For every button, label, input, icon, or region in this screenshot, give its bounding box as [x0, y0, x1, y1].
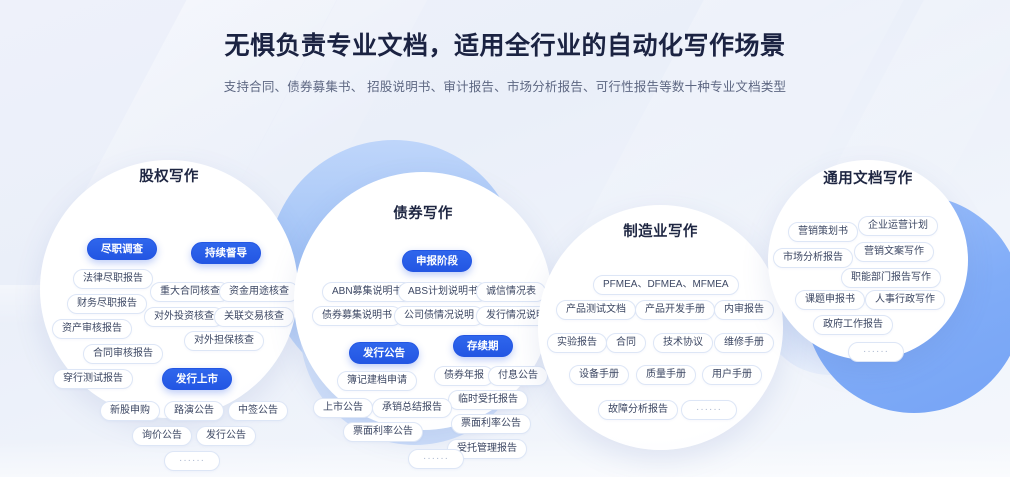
doc-type-chip[interactable]: 公司债情况说明: [394, 306, 484, 326]
bubble-equity-writing: 股权写作尽职调查持续督导法律尽职报告重大合同核查资金用途核查财务尽职报告对外投资…: [40, 160, 298, 418]
doc-type-chip[interactable]: 技术协议: [653, 333, 713, 353]
doc-type-chip[interactable]: 产品开发手册: [635, 300, 715, 320]
page-header: 无惧负责专业文档，适用全行业的自动化写作场景 支持合同、债券募集书、 招股说明书…: [0, 0, 1010, 95]
bubble-general-doc-writing: 通用文档写作营销策划书企业运营计划市场分析报告营销文案写作职能部门报告写作课题申…: [768, 160, 968, 360]
doc-type-chip[interactable]: 承销总结报告: [372, 398, 452, 418]
page-title: 无惧负责专业文档，适用全行业的自动化写作场景: [0, 26, 1010, 62]
doc-type-chip[interactable]: 课题申报书: [795, 290, 865, 310]
category-pill[interactable]: 发行上市: [162, 368, 232, 390]
category-pill[interactable]: 申报阶段: [402, 250, 472, 272]
doc-type-chip[interactable]: 资金用途核查: [219, 282, 299, 302]
more-chip[interactable]: ······: [408, 449, 464, 469]
bubble-title-manufacturing-writing: 制造业写作: [538, 220, 783, 241]
doc-type-chip[interactable]: 簿记建档申请: [337, 371, 417, 391]
doc-type-chip[interactable]: 法律尽职报告: [73, 269, 153, 289]
page-subtitle: 支持合同、债券募集书、 招股说明书、审计报告、市场分析报告、可行性报告等数十种专…: [0, 76, 1010, 95]
doc-type-chip[interactable]: 对外担保核查: [184, 331, 264, 351]
more-chip[interactable]: ······: [164, 451, 220, 471]
doc-type-chip[interactable]: PFMEA、DFMEA、MFMEA: [593, 275, 739, 295]
doc-type-chip[interactable]: 设备手册: [569, 365, 629, 385]
doc-type-chip[interactable]: 上市公告: [313, 398, 373, 418]
doc-type-chip[interactable]: 临时受托报告: [448, 390, 528, 410]
doc-type-chip[interactable]: 新股申购: [100, 401, 160, 421]
bubble-title-bond-writing: 债券写作: [294, 202, 552, 223]
doc-type-chip[interactable]: 企业运营计划: [858, 216, 938, 236]
doc-type-chip[interactable]: 人事行政写作: [865, 290, 945, 310]
doc-type-chip[interactable]: 质量手册: [636, 365, 696, 385]
category-pill[interactable]: 发行公告: [349, 342, 419, 364]
doc-type-chip[interactable]: 询价公告: [132, 426, 192, 446]
category-pill[interactable]: 持续督导: [191, 242, 261, 264]
doc-type-chip[interactable]: 发行公告: [196, 426, 256, 446]
doc-type-chip[interactable]: 对外投资核查: [144, 307, 224, 327]
doc-type-chip[interactable]: 财务尽职报告: [67, 294, 147, 314]
bubble-title-equity-writing: 股权写作: [40, 165, 298, 186]
doc-type-chip[interactable]: 营销策划书: [788, 222, 858, 242]
doc-type-chip[interactable]: 实验报告: [547, 333, 607, 353]
doc-type-chip[interactable]: 中签公告: [228, 401, 288, 421]
bubble-bond-writing: 债券写作申报阶段ABN募集说明书ABS计划说明书诚信情况表债券募集说明书公司债情…: [294, 172, 552, 430]
doc-type-chip[interactable]: 债券募集说明书: [312, 306, 402, 326]
doc-type-chip[interactable]: 付息公告: [488, 366, 548, 386]
doc-type-chip[interactable]: 故障分析报告: [598, 400, 678, 420]
doc-type-chip[interactable]: 产品测试文档: [556, 300, 636, 320]
doc-type-chip[interactable]: 资产审核报告: [52, 319, 132, 339]
doc-type-chip[interactable]: 债券年报: [434, 366, 494, 386]
doc-type-chip[interactable]: 穿行测试报告: [53, 369, 133, 389]
doc-type-chip[interactable]: 职能部门报告写作: [841, 268, 941, 288]
more-chip[interactable]: ······: [681, 400, 737, 420]
doc-type-chip[interactable]: 票面利率公告: [451, 414, 531, 434]
category-pill[interactable]: 尽职调查: [87, 238, 157, 260]
doc-type-chip[interactable]: 诚信情况表: [476, 282, 546, 302]
doc-type-chip[interactable]: 政府工作报告: [813, 315, 893, 335]
doc-type-chip[interactable]: 内审报告: [714, 300, 774, 320]
doc-type-chip[interactable]: 营销文案写作: [854, 242, 934, 262]
doc-type-chip[interactable]: 关联交易核查: [214, 307, 294, 327]
doc-type-chip[interactable]: 市场分析报告: [773, 248, 853, 268]
bubble-title-general-doc-writing: 通用文档写作: [768, 167, 968, 188]
doc-type-chip[interactable]: 重大合同核查: [150, 282, 230, 302]
doc-type-chip[interactable]: 用户手册: [702, 365, 762, 385]
doc-type-chip[interactable]: 维修手册: [714, 333, 774, 353]
doc-type-chip[interactable]: 票面利率公告: [343, 422, 423, 442]
category-pill[interactable]: 存续期: [453, 335, 513, 357]
doc-type-chip[interactable]: 合同审核报告: [83, 344, 163, 364]
doc-type-chip[interactable]: 合同: [606, 333, 646, 353]
bubble-manufacturing-writing: 制造业写作PFMEA、DFMEA、MFMEA产品测试文档产品开发手册内审报告实验…: [538, 205, 783, 450]
doc-type-chip[interactable]: ABS计划说明书: [398, 282, 488, 302]
doc-type-chip[interactable]: 路演公告: [164, 401, 224, 421]
more-chip[interactable]: ······: [848, 342, 904, 362]
